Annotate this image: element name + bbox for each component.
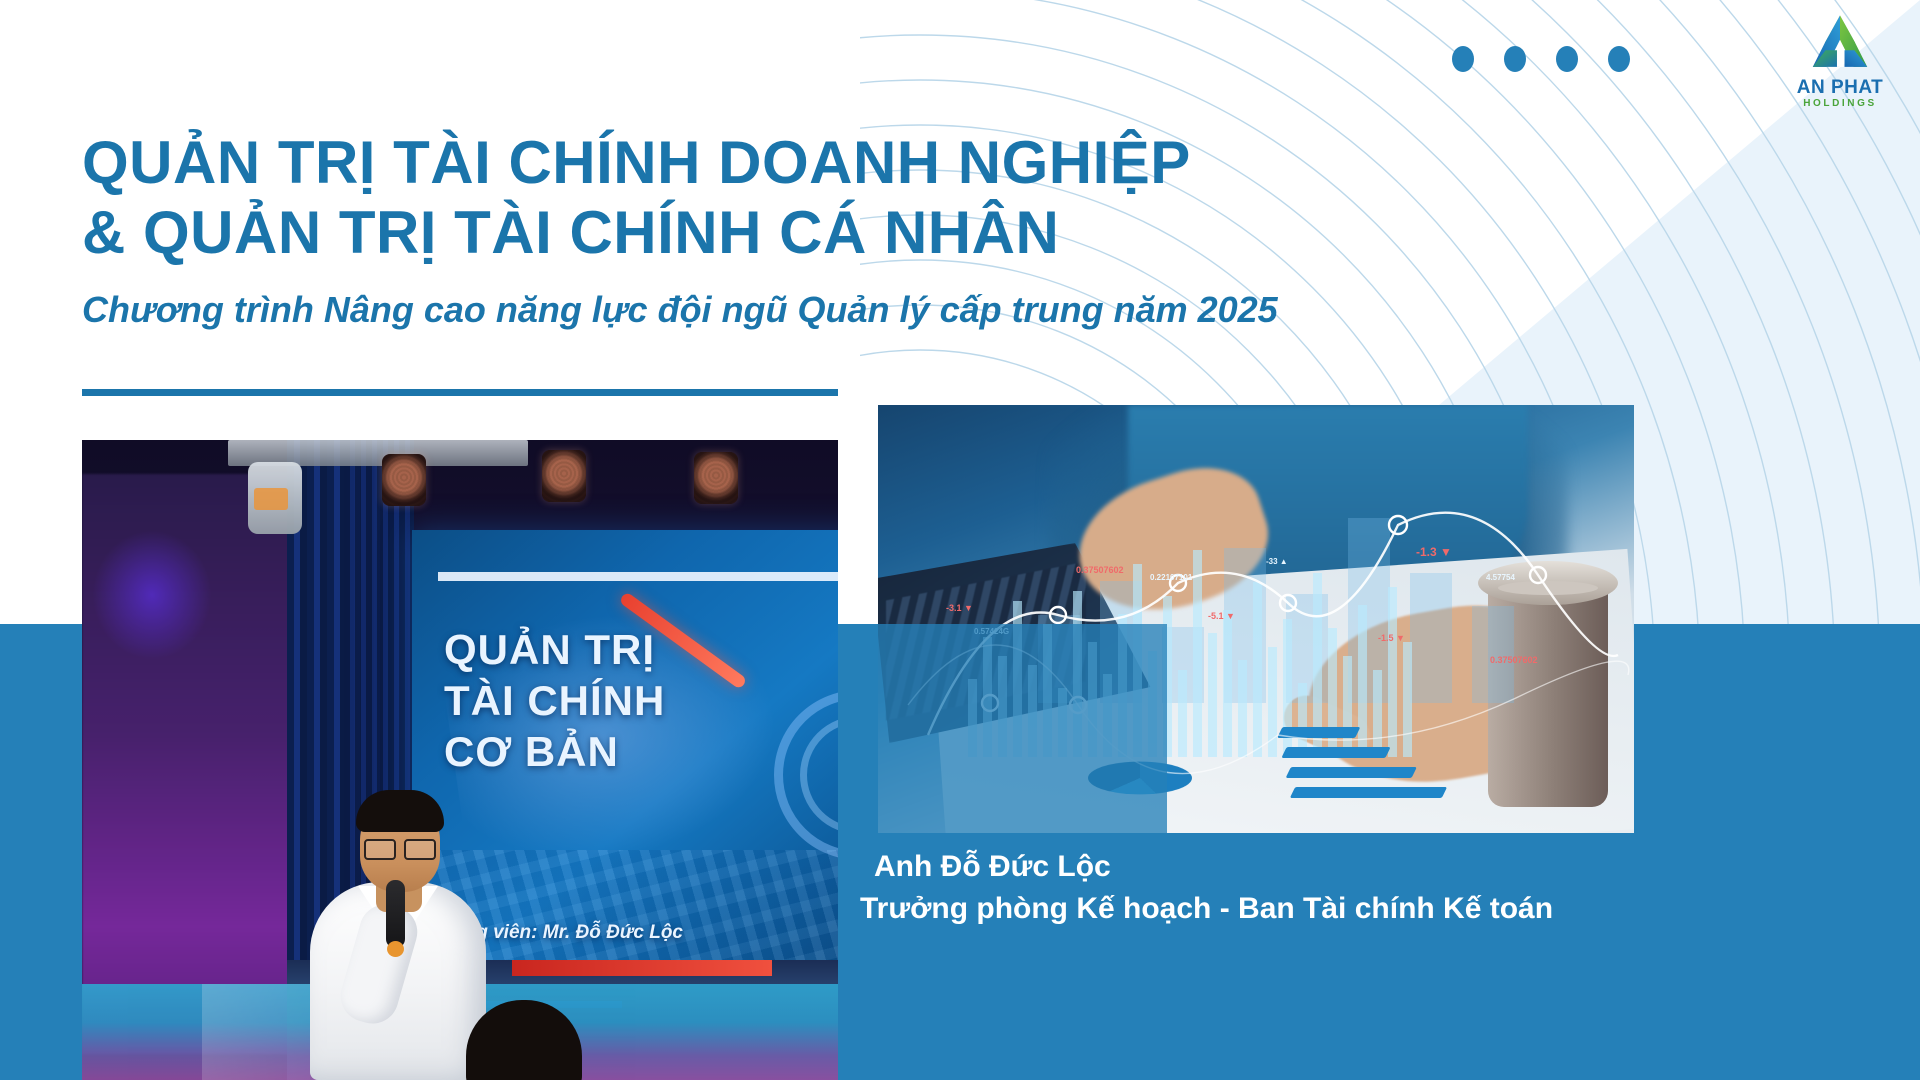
speaker-glasses — [364, 839, 436, 856]
logo-subwordmark: HOLDINGS — [1788, 98, 1892, 110]
screen-title-line-1: QUẢN TRỊ — [444, 624, 784, 675]
screen-title-line-3: CƠ BẢN — [444, 726, 784, 777]
par-light-3 — [694, 452, 738, 504]
stage-light-glow — [92, 530, 212, 660]
chart-label-red-1: -1.3 ▼ — [1416, 545, 1452, 559]
dot-1 — [1452, 46, 1474, 72]
presenter-role: Trưởng phòng Kế hoạch - Ban Tài chính Kế… — [860, 888, 1760, 930]
presentation-slide: AN PHAT HOLDINGS QUẢN TRỊ TÀI CHÍNH DOAN… — [0, 0, 1920, 1080]
chart-label-red-5: 0.37507602 — [1076, 565, 1124, 575]
chart-label-red-4: -3.1 ▼ — [946, 603, 973, 613]
blue-tint-overlay — [878, 624, 1167, 833]
chart-label-red-6: 0.37507602 — [1490, 655, 1538, 665]
moving-head-light — [248, 462, 302, 534]
speaker-hair — [356, 790, 444, 832]
presenter-name: Anh Đỗ Đức Lộc — [860, 846, 1760, 888]
logo-wordmark: AN PHAT — [1788, 78, 1892, 98]
chart-label-red-2: -5.1 ▼ — [1208, 611, 1235, 621]
screen-title-text: QUẢN TRỊ TÀI CHÍNH CƠ BẢN — [444, 624, 784, 777]
dot-3 — [1556, 46, 1578, 72]
an-phat-holdings-logo: AN PHAT HOLDINGS — [1788, 14, 1892, 114]
par-light-2 — [542, 450, 586, 502]
decorative-dots-row — [1452, 46, 1630, 72]
dot-4 — [1608, 46, 1630, 72]
an-phat-a-mark-icon — [1802, 14, 1878, 76]
chart-label-white-1: -33 ▲ — [1266, 557, 1288, 566]
page-title-line-1: QUẢN TRỊ TÀI CHÍNH DOANH NGHIỆP — [82, 128, 1402, 198]
photo-speaker-on-stage: QUẢN TRỊ TÀI CHÍNH CƠ BẢN Giảng viên: Mr… — [82, 440, 838, 1080]
photo-financial-analysis: -1.3 ▼ -5.1 ▼ -1.5 ▼ -3.1 ▼ 0.37507602 0… — [878, 405, 1634, 833]
screen-title-rule — [438, 572, 838, 581]
chart-label-white-3: 4.57754 — [1486, 573, 1515, 582]
dot-2 — [1504, 46, 1526, 72]
stage-red-accent — [512, 960, 772, 976]
chart-label-white-2: 0.22107101 — [1150, 573, 1192, 582]
screen-title-line-2: TÀI CHÍNH — [444, 675, 784, 726]
title-block: QUẢN TRỊ TÀI CHÍNH DOANH NGHIỆP & QUẢN T… — [82, 128, 1402, 332]
page-title-line-2: & QUẢN TRỊ TÀI CHÍNH CÁ NHÂN — [82, 198, 1402, 268]
microphone — [386, 880, 405, 948]
title-underline-rule — [82, 389, 838, 396]
par-light-1 — [382, 454, 426, 506]
presenter-caption: Anh Đỗ Đức Lộc Trưởng phòng Kế hoạch - B… — [860, 846, 1760, 930]
page-subtitle: Chương trình Nâng cao năng lực đội ngũ Q… — [82, 288, 1402, 332]
chart-label-red-3: -1.5 ▼ — [1378, 633, 1405, 643]
